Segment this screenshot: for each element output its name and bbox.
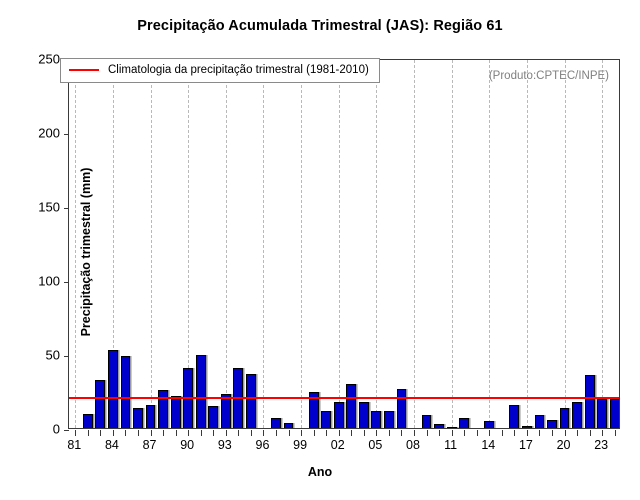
x-axis-tick bbox=[489, 430, 490, 436]
x-axis-label: Ano bbox=[0, 465, 640, 479]
bar bbox=[221, 394, 231, 428]
bar bbox=[208, 406, 218, 428]
x-axis-tick-label: 02 bbox=[321, 438, 355, 452]
gridline-vertical bbox=[376, 60, 377, 428]
bar bbox=[535, 415, 545, 428]
bar bbox=[572, 402, 582, 428]
bar bbox=[597, 399, 607, 428]
x-axis-tick bbox=[113, 430, 114, 436]
gridline-vertical bbox=[263, 60, 264, 428]
bar bbox=[83, 414, 93, 428]
gridline-vertical bbox=[452, 60, 453, 428]
x-axis-tick bbox=[477, 430, 478, 436]
x-axis-tick bbox=[602, 430, 603, 436]
x-axis-tick bbox=[364, 430, 365, 436]
gridline-vertical bbox=[75, 60, 76, 428]
x-axis-tick-label: 84 bbox=[95, 438, 129, 452]
chart-legend: Climatologia da precipitação trimestral … bbox=[60, 58, 380, 83]
x-axis-tick-label: 96 bbox=[245, 438, 279, 452]
y-axis-tick bbox=[64, 134, 69, 135]
x-axis-tick bbox=[376, 430, 377, 436]
gridline-vertical bbox=[301, 60, 302, 428]
x-axis-tick bbox=[552, 430, 553, 436]
x-axis-tick bbox=[565, 430, 566, 436]
x-axis-tick bbox=[176, 430, 177, 436]
bar bbox=[284, 423, 294, 428]
x-axis-tick-label: 99 bbox=[283, 438, 317, 452]
x-axis-tick-label: 20 bbox=[547, 438, 581, 452]
x-axis-tick bbox=[213, 430, 214, 436]
x-axis-tick bbox=[138, 430, 139, 436]
y-axis-tick-label: 0 bbox=[20, 422, 60, 437]
bar bbox=[133, 408, 143, 428]
y-axis-tick bbox=[64, 356, 69, 357]
bar bbox=[560, 408, 570, 428]
bar bbox=[509, 405, 519, 428]
x-axis-tick bbox=[188, 430, 189, 436]
gridline-vertical bbox=[527, 60, 528, 428]
x-axis-tick bbox=[452, 430, 453, 436]
bar bbox=[146, 405, 156, 428]
legend-item-label: Climatologia da precipitação trimestral … bbox=[108, 64, 369, 76]
y-axis-tick bbox=[64, 282, 69, 283]
bar bbox=[447, 427, 457, 428]
x-axis-tick bbox=[464, 430, 465, 436]
x-axis-tick bbox=[427, 430, 428, 436]
bar bbox=[434, 424, 444, 428]
x-axis-tick bbox=[151, 430, 152, 436]
bar bbox=[246, 374, 256, 428]
x-axis-tick bbox=[326, 430, 327, 436]
y-axis-tick bbox=[64, 430, 69, 431]
bar bbox=[346, 384, 356, 428]
gridline-vertical bbox=[489, 60, 490, 428]
x-axis-tick bbox=[226, 430, 227, 436]
x-axis-tick bbox=[75, 430, 76, 436]
gridline-vertical bbox=[226, 60, 227, 428]
x-axis-tick-label: 23 bbox=[584, 438, 618, 452]
bar bbox=[271, 418, 281, 428]
bar bbox=[321, 411, 331, 428]
x-axis-tick bbox=[125, 430, 126, 436]
x-axis-tick bbox=[590, 430, 591, 436]
bar bbox=[422, 415, 432, 428]
chart-figure: Precipitação Acumulada Trimestral (JAS):… bbox=[0, 0, 640, 500]
bar bbox=[384, 411, 394, 428]
bar bbox=[522, 426, 532, 428]
y-axis-tick bbox=[64, 208, 69, 209]
bar bbox=[484, 421, 494, 428]
y-axis-tick-label: 150 bbox=[20, 200, 60, 215]
x-axis-tick bbox=[514, 430, 515, 436]
x-axis-tick-label: 93 bbox=[208, 438, 242, 452]
bar bbox=[95, 380, 105, 428]
x-axis-tick bbox=[314, 430, 315, 436]
x-axis-tick-label: 90 bbox=[170, 438, 204, 452]
x-axis-tick bbox=[527, 430, 528, 436]
bar bbox=[371, 411, 381, 428]
gridline-vertical bbox=[414, 60, 415, 428]
x-axis-tick bbox=[276, 430, 277, 436]
x-axis-tick bbox=[577, 430, 578, 436]
x-axis-tick bbox=[88, 430, 89, 436]
bar bbox=[334, 402, 344, 428]
bar bbox=[171, 396, 181, 428]
x-axis-tick bbox=[539, 430, 540, 436]
y-axis-tick-label: 200 bbox=[20, 126, 60, 141]
gridline-vertical bbox=[602, 60, 603, 428]
legend-line-swatch bbox=[69, 69, 99, 71]
bar bbox=[196, 355, 206, 428]
bar bbox=[547, 420, 557, 428]
bar bbox=[397, 389, 407, 428]
x-axis-tick bbox=[301, 430, 302, 436]
plot-area: Precipitação trimestral (mm) (Produto:CP… bbox=[68, 59, 620, 429]
x-axis-tick bbox=[201, 430, 202, 436]
x-axis-tick-label: 87 bbox=[133, 438, 167, 452]
producer-annotation: (Produto:CPTEC/INPE) bbox=[489, 70, 609, 82]
x-axis-tick-label: 81 bbox=[57, 438, 91, 452]
x-axis-tick-label: 08 bbox=[396, 438, 430, 452]
gridline-vertical bbox=[565, 60, 566, 428]
y-axis-tick-label: 100 bbox=[20, 274, 60, 289]
x-axis-tick-label: 05 bbox=[358, 438, 392, 452]
x-axis-tick bbox=[339, 430, 340, 436]
x-axis-tick bbox=[615, 430, 616, 436]
bar bbox=[108, 350, 118, 428]
x-axis-tick bbox=[439, 430, 440, 436]
x-axis-tick bbox=[263, 430, 264, 436]
x-axis-tick bbox=[502, 430, 503, 436]
x-axis-tick-label: 14 bbox=[471, 438, 505, 452]
x-axis-tick-label: 17 bbox=[509, 438, 543, 452]
gridline-vertical bbox=[151, 60, 152, 428]
bar bbox=[585, 375, 595, 428]
x-axis-tick bbox=[289, 430, 290, 436]
bar bbox=[459, 418, 469, 428]
x-axis-tick bbox=[414, 430, 415, 436]
x-axis-tick-label: 11 bbox=[434, 438, 468, 452]
x-axis-tick bbox=[163, 430, 164, 436]
y-axis-tick-label: 50 bbox=[20, 348, 60, 363]
x-axis-tick bbox=[251, 430, 252, 436]
x-axis-tick bbox=[389, 430, 390, 436]
bar bbox=[610, 399, 619, 428]
gridline-vertical bbox=[339, 60, 340, 428]
x-axis-tick bbox=[100, 430, 101, 436]
x-axis-tick bbox=[351, 430, 352, 436]
plot-inner bbox=[69, 60, 619, 428]
bar bbox=[359, 402, 369, 428]
chart-title: Precipitação Acumulada Trimestral (JAS):… bbox=[0, 18, 640, 34]
x-axis-tick bbox=[238, 430, 239, 436]
x-axis-tick bbox=[401, 430, 402, 436]
climatology-line bbox=[69, 397, 619, 399]
y-axis-tick-label: 250 bbox=[20, 52, 60, 67]
bar bbox=[121, 356, 131, 428]
